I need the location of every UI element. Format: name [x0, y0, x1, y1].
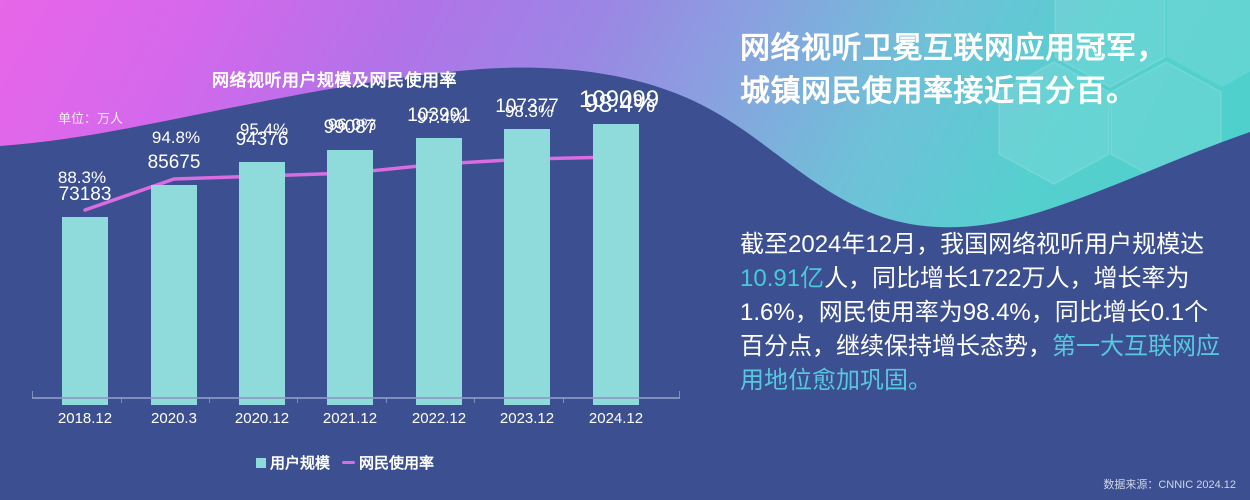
bar-label-2020-3: 85675	[148, 152, 201, 174]
bar-2020-12	[239, 162, 285, 405]
data-source-note: 数据来源：CNNIC 2024.12	[1103, 476, 1236, 492]
body-text-part-1: 截至2024年12月，我国网络视听用户规模达	[740, 231, 1204, 258]
x-axis-label-2021-12: 2021.12	[323, 410, 377, 427]
body-copy: 截至2024年12月，我国网络视听用户规模达10.91亿人，同比增长1722万人…	[740, 228, 1232, 398]
x-axis-label-2020-3: 2020.3	[151, 410, 197, 427]
bar-2018-12	[62, 217, 108, 405]
headline: 网络视听卫冕互联网应用冠军， 城镇网民使用率接近百分百。	[740, 28, 1230, 113]
pct-label-2021-12: 96.0%	[328, 115, 376, 135]
pct-label-2018-12: 88.3%	[58, 168, 106, 188]
infographic-canvas: 网络视听用户规模及网民使用率 单位：万人 73183 85675 94376 9…	[0, 0, 1250, 500]
bar-2020-3	[151, 185, 197, 405]
x-axis-tick	[121, 397, 122, 403]
x-axis-tick	[563, 397, 564, 403]
legend-label-user-scale: 用户规模	[270, 452, 330, 473]
x-axis-tick	[386, 397, 387, 403]
headline-line-1: 网络视听卫冕互联网应用冠军，	[740, 28, 1230, 71]
body-highlight-figure: 10.91亿	[740, 265, 824, 292]
pct-label-2022-12: 97.4%	[417, 108, 465, 128]
x-axis-label-2024-12: 2024.12	[589, 410, 643, 427]
bar-2022-12	[416, 138, 462, 405]
bar-swatch-icon	[256, 458, 266, 468]
line-swatch-icon	[342, 461, 355, 464]
bar-2021-12	[327, 150, 373, 405]
pct-label-2024-12: 98.4%	[585, 90, 656, 119]
legend-label-usage-rate: 网民使用率	[359, 452, 434, 473]
pct-label-2020-12: 95.4%	[240, 120, 288, 140]
chart-plot-area: 73183 85675 94376 99087 103991 107377 10…	[30, 60, 680, 405]
x-axis-line	[32, 397, 680, 399]
pct-label-2020-3: 94.8%	[152, 128, 200, 148]
x-axis-end-cap	[679, 391, 680, 399]
x-axis-tick	[209, 397, 210, 403]
x-axis-label-2023-12: 2023.12	[500, 410, 554, 427]
headline-line-2: 城镇网民使用率接近百分百。	[740, 71, 1230, 114]
x-axis-label-2022-12: 2022.12	[412, 410, 466, 427]
x-axis-tick	[297, 397, 298, 403]
x-axis-start-cap	[32, 391, 33, 399]
x-axis-label-2020-12: 2020.12	[235, 410, 289, 427]
x-axis-label-2018-12: 2018.12	[58, 410, 112, 427]
chart-legend: 用户规模 网民使用率	[0, 452, 690, 473]
x-axis-tick	[474, 397, 475, 403]
pct-label-2023-12: 98.3%	[505, 102, 553, 122]
bar-2023-12	[504, 129, 550, 405]
bar-2024-12	[593, 124, 639, 405]
legend-item-user-scale: 用户规模	[256, 452, 330, 473]
legend-item-usage-rate: 网民使用率	[342, 452, 434, 473]
